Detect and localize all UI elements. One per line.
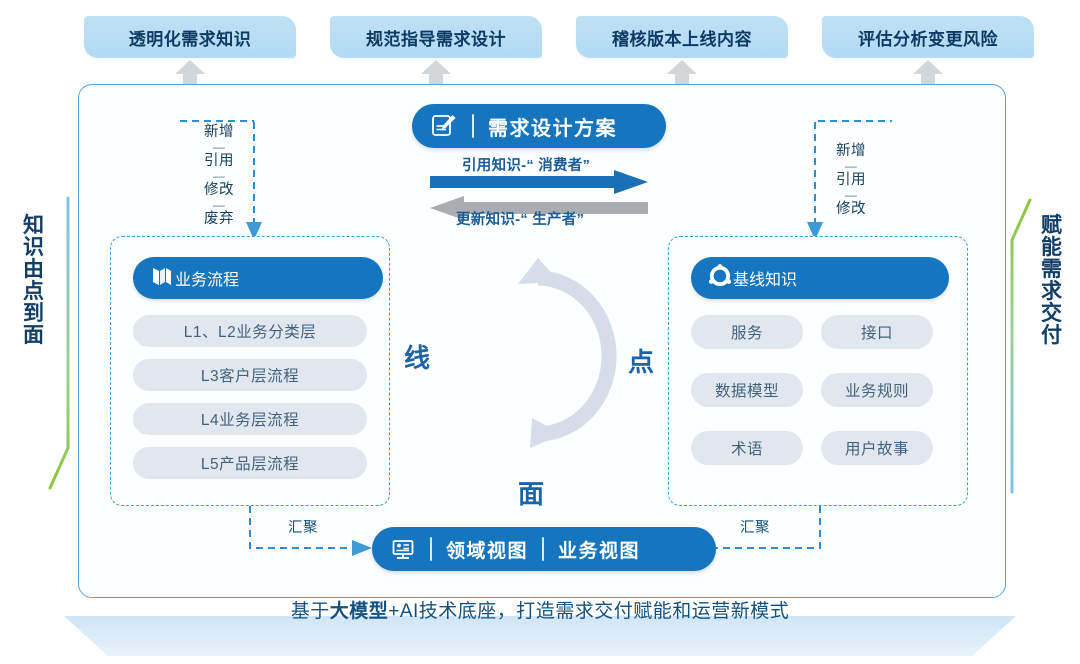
views-pill[interactable]: 领域视图 业务视图: [372, 527, 716, 571]
book-view-icon: [390, 536, 416, 562]
right-panel-chip-5[interactable]: 用户故事: [821, 431, 933, 465]
right-panel-chip-0[interactable]: 服务: [691, 315, 803, 349]
baseline-knowledge-pill[interactable]: 基线知识: [691, 257, 949, 299]
stack-dash: —: [828, 189, 874, 201]
left-stack-labels: 新增 — 引用 — 修改 — 废弃: [196, 124, 242, 228]
left-stack-item-3: 废弃: [204, 211, 234, 227]
pill-divider: [472, 114, 474, 138]
diagram-canvas: 透明化需求知识 规范指导需求设计 稽核版本上线内容 评估分析变更风险: [0, 0, 1080, 664]
side-label-right-text: 赋能需求交付: [1032, 215, 1072, 347]
top-badge-label: 规范指导需求设计: [366, 25, 506, 50]
right-panel-chip-1[interactable]: 接口: [821, 315, 933, 349]
side-label-left-text: 知识由点到面: [14, 215, 54, 347]
baseline-knowledge-title: 基线知识: [733, 266, 797, 290]
left-stack-item-0: 新增: [204, 124, 234, 140]
edit-document-icon: [430, 112, 458, 140]
chip-label: 接口: [861, 321, 893, 343]
center-label-plane: 面: [518, 474, 545, 511]
chip-label: 术语: [731, 437, 763, 459]
side-label-left: 知识由点到面: [14, 215, 54, 347]
dashed-connector-right: [800, 118, 830, 246]
chip-label: 服务: [731, 321, 763, 343]
top-badge-label: 评估分析变更风险: [858, 25, 998, 50]
footer-prefix: 基于: [291, 601, 330, 622]
right-stack-item-0: 新增: [836, 143, 866, 159]
business-process-title: 业务流程: [175, 266, 239, 290]
business-process-panel: 业务流程 L1、L2业务分类层 L3客户层流程 L4业务层流程 L5产品层流程: [110, 236, 390, 506]
right-stack-item-2: 修改: [836, 201, 866, 217]
business-view-title: 业务视图: [558, 536, 640, 563]
chip-label: L1、L2业务分类层: [184, 320, 316, 342]
top-badge-3[interactable]: 评估分析变更风险: [822, 16, 1034, 58]
chip-label: 用户故事: [845, 437, 909, 459]
footer-text: 基于大模型+AI技术底座，打造需求交付赋能和运营新模式: [0, 596, 1080, 623]
right-gradient-arrow-icon: [998, 196, 1034, 496]
stack-dash: —: [196, 170, 242, 182]
baseline-knowledge-panel: 基线知识 服务 接口 数据模型 业务规则 术语 用户故事: [668, 236, 968, 506]
business-process-pill[interactable]: 业务流程: [133, 257, 383, 299]
chip-label: 数据模型: [715, 379, 779, 401]
stack-dash: —: [196, 199, 242, 211]
right-stack-labels: 新增 — 引用 — 修改: [828, 143, 874, 218]
domain-view-title: 领域视图: [446, 536, 528, 563]
consume-label: 引用知识-“ 消费者”: [462, 154, 590, 175]
folded-map-icon: [149, 263, 175, 294]
left-panel-chip-1[interactable]: L3客户层流程: [133, 359, 367, 391]
converge-label-right: 汇聚: [740, 516, 770, 537]
center-label-line: 线: [404, 338, 431, 375]
node-cluster-icon: [707, 263, 733, 294]
chip-label: L3客户层流程: [201, 364, 299, 386]
side-label-right: 赋能需求交付: [1032, 215, 1072, 347]
right-panel-chip-3[interactable]: 业务规则: [821, 373, 933, 407]
center-label-point: 点: [628, 342, 655, 379]
chip-label: L4业务层流程: [201, 408, 299, 430]
produce-label: 更新知识-“ 生产者”: [456, 208, 584, 229]
scheme-pill[interactable]: 需求设计方案: [412, 104, 666, 148]
right-stack-item-1: 引用: [836, 172, 866, 188]
left-panel-chip-0[interactable]: L1、L2业务分类层: [133, 315, 367, 347]
stack-dash: —: [196, 141, 242, 153]
right-panel-chip-4[interactable]: 术语: [691, 431, 803, 465]
left-panel-chip-2[interactable]: L4业务层流程: [133, 403, 367, 435]
left-stack-item-2: 修改: [204, 182, 234, 198]
pill-divider: [542, 537, 544, 561]
footer-highlight: 大模型: [330, 601, 389, 622]
dashed-connector-left: [240, 118, 270, 246]
stack-dash: —: [828, 160, 874, 172]
right-panel-chip-2[interactable]: 数据模型: [691, 373, 803, 407]
top-badge-1[interactable]: 规范指导需求设计: [330, 16, 542, 58]
dashed-connector-right-top: [812, 116, 892, 126]
left-panel-chip-3[interactable]: L5产品层流程: [133, 447, 367, 479]
top-badge-0[interactable]: 透明化需求知识: [84, 16, 296, 58]
top-badge-label: 透明化需求知识: [129, 25, 252, 50]
footer-suffix: +AI技术底座，打造需求交付赋能和运营新模式: [388, 601, 789, 622]
top-badge-2[interactable]: 稽核版本上线内容: [576, 16, 788, 58]
chip-label: L5产品层流程: [201, 452, 299, 474]
top-badge-label: 稽核版本上线内容: [612, 25, 752, 50]
cycle-arrow-icon: [450, 252, 626, 460]
scheme-title: 需求设计方案: [488, 112, 617, 141]
pill-divider: [430, 537, 432, 561]
converge-label-left: 汇聚: [288, 516, 318, 537]
left-stack-item-1: 引用: [204, 153, 234, 169]
chip-label: 业务规则: [845, 379, 909, 401]
